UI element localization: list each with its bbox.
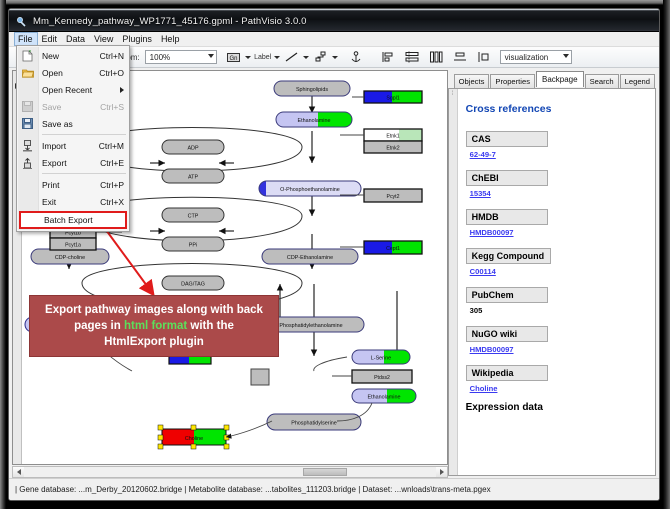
xref-nugo: NuGO wiki HMDB00097 <box>466 324 647 354</box>
pathvisio-icon <box>16 16 28 28</box>
svg-text:Pcyt2: Pcyt2 <box>387 194 400 200</box>
node-sphingolipids: Sphingolipids <box>274 81 350 96</box>
xref-cas-label: CAS <box>466 131 548 147</box>
menu-item-save-label: Save <box>42 102 61 112</box>
menu-item-open-label: Open <box>42 68 63 78</box>
line-dropdown-icon[interactable] <box>302 49 311 65</box>
menu-help[interactable]: Help <box>157 32 185 46</box>
side-panel: Objects Properties Backpage Search Legen… <box>447 69 659 478</box>
export-icon <box>21 156 34 169</box>
new-document-icon <box>21 49 34 62</box>
node-pcyt1a: Pcyt1a <box>50 238 96 250</box>
xref-hmdb: HMDB HMDB00097 <box>466 207 647 237</box>
tab-backpage[interactable]: Backpage <box>536 71 584 87</box>
menu-item-open-accel: Ctrl+O <box>99 68 124 78</box>
screen-right-border <box>663 0 670 509</box>
node-cdp-ethanolamine: CDP-Ethanolamine <box>262 249 358 264</box>
file-menu-dropdown: New Ctrl+N Open Ctrl+O Open Recent Save <box>16 45 130 232</box>
menu-item-batch-export[interactable]: Batch Export <box>19 211 127 229</box>
node-group-box <box>251 369 269 385</box>
menu-item-export-accel: Ctrl+E <box>100 158 124 168</box>
menu-item-save-as[interactable]: Save as <box>17 115 129 132</box>
menu-separator-2 <box>42 173 126 174</box>
menu-item-save-accel: Ctrl+S <box>100 102 124 112</box>
xref-pubchem-label: PubChem <box>466 287 548 303</box>
svg-text:Cept1: Cept1 <box>386 246 400 252</box>
node-adp: ADP <box>162 140 224 154</box>
svg-text:Ethanolamine: Ethanolamine <box>368 395 401 401</box>
screen-left-border <box>0 0 6 509</box>
interaction-dropdown-icon[interactable] <box>331 49 340 65</box>
align-rows-button[interactable] <box>404 49 420 65</box>
scroll-left-icon[interactable] <box>13 467 24 477</box>
menu-item-open-recent[interactable]: Open Recent <box>17 81 129 98</box>
svg-text:CTP: CTP <box>188 214 199 220</box>
svg-text:CDP-choline: CDP-choline <box>55 255 85 261</box>
node-l-serine: L-Serine <box>352 350 410 364</box>
xref-wikipedia: Wikipedia Choline <box>466 363 647 393</box>
menu-item-exit[interactable]: Exit Ctrl+X <box>17 193 129 210</box>
menu-item-print[interactable]: Print Ctrl+P <box>17 176 129 193</box>
node-etnk1: Etnk1 <box>364 129 422 141</box>
svg-text:Gn: Gn <box>230 56 238 62</box>
menu-item-save-as-label: Save as <box>42 119 73 129</box>
zoom-combo[interactable]: 100% <box>145 50 217 64</box>
menu-item-import-accel: Ctrl+M <box>99 141 124 151</box>
tab-search[interactable]: Search <box>585 74 619 88</box>
anchor-button[interactable] <box>348 49 364 65</box>
menu-data[interactable]: Data <box>62 32 90 46</box>
xref-cas: CAS 62-49-7 <box>466 129 647 159</box>
svg-text:Phosphatidylethanolamine: Phosphatidylethanolamine <box>279 323 342 329</box>
label-button[interactable]: Label <box>255 49 271 65</box>
align-cols-button[interactable] <box>428 49 444 65</box>
side-panel-body: ⁞ Cross references CAS 62-49-7 ChEBI 153… <box>448 88 656 476</box>
xref-pubchem: PubChem 305 <box>466 285 647 315</box>
menu-item-save: Save Ctrl+S <box>17 98 129 115</box>
menu-item-new-label: New <box>42 51 59 61</box>
callout-line-2: pages in html format with the <box>74 318 234 334</box>
screen-top-border <box>0 0 670 5</box>
xref-kegg: Kegg Compound C00114 <box>466 246 647 276</box>
xref-cas-value[interactable]: 62-49-7 <box>466 150 647 159</box>
xref-hmdb-value[interactable]: HMDB00097 <box>466 228 647 237</box>
chevron-down-icon <box>563 54 569 58</box>
menu-item-export-label: Export <box>42 158 67 168</box>
stack-button[interactable] <box>452 49 468 65</box>
chevron-down-icon <box>208 54 214 58</box>
menu-item-open-recent-label: Open Recent <box>42 85 92 95</box>
xref-hmdb-label: HMDB <box>466 209 548 225</box>
scroll-thumb[interactable] <box>303 468 347 476</box>
group-button[interactable] <box>476 49 492 65</box>
node-atp: ATP <box>162 169 224 183</box>
node-phosphatidylserine: Phosphatidylserine <box>267 414 361 430</box>
svg-text:Pcyt1a: Pcyt1a <box>65 243 81 249</box>
label-dropdown-icon[interactable] <box>273 49 282 65</box>
visualization-value: visualization <box>505 53 549 62</box>
xref-wikipedia-label: Wikipedia <box>466 365 548 381</box>
annotation-callout: Export pathway images along with back pa… <box>29 295 279 357</box>
datanode-dropdown-icon[interactable] <box>244 49 253 65</box>
menu-item-new-accel: Ctrl+N <box>100 51 124 61</box>
node-ethanolamine-top: Ethanolamine <box>276 112 352 127</box>
submenu-arrow-icon <box>120 87 124 93</box>
node-cdp-choline: CDP-choline <box>31 249 109 264</box>
menu-item-print-accel: Ctrl+P <box>100 180 124 190</box>
menu-item-exit-label: Exit <box>42 197 56 207</box>
zoom-value: 100% <box>150 53 170 62</box>
callout-line-2-highlight: html format <box>124 320 187 332</box>
rail-grip-icon[interactable]: ⁞ <box>452 92 454 96</box>
menu-plugins[interactable]: Plugins <box>118 32 157 46</box>
svg-text:ADP: ADP <box>187 146 198 152</box>
menu-edit[interactable]: Edit <box>38 32 63 46</box>
node-choline-selected: Choline <box>158 425 229 449</box>
line-button[interactable] <box>284 49 300 65</box>
svg-text:Sgpl1: Sgpl1 <box>386 96 399 102</box>
svg-text:O-Phosphoethanolamine: O-Phosphoethanolamine <box>280 187 340 193</box>
tab-legend[interactable]: Legend <box>620 74 655 88</box>
pathvisio-window: Mm_Kennedy_pathway_WP1771_45176.gpml - P… <box>8 8 660 501</box>
xref-kegg-value[interactable]: C00114 <box>466 267 647 276</box>
side-panel-tabs: Objects Properties Backpage Search Legen… <box>448 73 656 88</box>
menu-item-batch-export-label: Batch Export <box>44 215 93 225</box>
svg-text:L-Serine: L-Serine <box>371 356 391 362</box>
svg-text:DAG/TAG: DAG/TAG <box>181 282 205 288</box>
scroll-right-icon[interactable] <box>436 467 447 477</box>
desktop-background: Mm_Kennedy_pathway_WP1771_45176.gpml - P… <box>0 0 670 509</box>
menu-item-import[interactable]: Import Ctrl+M <box>17 137 129 154</box>
xref-pubchem-value: 305 <box>466 306 647 315</box>
callout-line-2-a: pages in <box>74 320 121 332</box>
side-panel-rail[interactable]: ⁞ <box>449 89 458 475</box>
svg-text:Ethanolamine: Ethanolamine <box>298 118 331 124</box>
node-sgpl1: Sgpl1 <box>364 91 422 103</box>
import-icon <box>21 139 34 152</box>
node-cept1: Cept1 <box>364 241 422 254</box>
menu-item-export[interactable]: Export Ctrl+E <box>17 154 129 171</box>
svg-text:Sphingolipids: Sphingolipids <box>296 87 328 93</box>
tab-objects[interactable]: Objects <box>454 74 490 88</box>
xref-chebi-value[interactable]: 15354 <box>466 189 647 198</box>
menu-separator-1 <box>42 134 126 135</box>
window-titlebar: Mm_Kennedy_pathway_WP1771_45176.gpml - P… <box>9 9 659 32</box>
callout-line-1: Export pathway images along with back <box>45 302 263 318</box>
node-etnk2: Etnk2 <box>364 141 422 153</box>
menu-file[interactable]: File <box>14 32 38 46</box>
callout-line-2-b: with the <box>190 320 233 332</box>
svg-text:ATP: ATP <box>188 175 198 181</box>
svg-text:Etnk2: Etnk2 <box>386 146 399 152</box>
node-dag-tag: DAG/TAG <box>162 276 224 290</box>
window-title: Mm_Kennedy_pathway_WP1771_45176.gpml - P… <box>33 16 307 27</box>
node-o-phosphoethanolamine: O-Phosphoethanolamine <box>259 181 361 196</box>
open-folder-icon <box>21 66 34 79</box>
svg-text:Phosphatidylserine: Phosphatidylserine <box>291 421 337 427</box>
visualization-combo[interactable]: visualization <box>500 50 572 64</box>
status-text: | Gene database: ...m_Derby_20120602.bri… <box>15 485 491 494</box>
backpage-content: Cross references CAS 62-49-7 ChEBI 15354… <box>458 89 655 475</box>
menu-item-open[interactable]: Open Ctrl+O <box>17 64 129 81</box>
canvas-horizontal-scrollbar[interactable] <box>12 466 448 478</box>
menu-item-import-label: Import <box>42 141 66 151</box>
node-ethanolamine-bottom: Ethanolamine <box>352 389 416 403</box>
svg-text:Ptdss2: Ptdss2 <box>374 375 390 381</box>
menu-item-print-label: Print <box>42 180 59 190</box>
tab-properties[interactable]: Properties <box>490 74 535 88</box>
menu-view[interactable]: View <box>90 32 118 46</box>
node-ppi: PPi <box>162 237 224 251</box>
save-as-disk-icon <box>21 117 34 130</box>
node-pcyt2: Pcyt2 <box>364 189 422 202</box>
xref-nugo-label: NuGO wiki <box>466 326 548 342</box>
svg-text:CDP-Ethanolamine: CDP-Ethanolamine <box>287 255 333 261</box>
datanode-button[interactable]: Gn <box>226 49 242 65</box>
menu-item-new[interactable]: New Ctrl+N <box>17 47 129 64</box>
statusbar: | Gene database: ...m_Derby_20120602.bri… <box>9 478 659 500</box>
expression-data-title: Expression data <box>466 402 647 413</box>
xref-wikipedia-value[interactable]: Choline <box>466 384 647 393</box>
cross-references-title: Cross references <box>466 103 647 115</box>
svg-text:Etnk1: Etnk1 <box>386 134 399 140</box>
save-disk-icon <box>21 100 34 113</box>
svg-text:Choline: Choline <box>185 436 203 442</box>
label-button-text: Label <box>254 54 271 61</box>
interaction-button[interactable] <box>313 49 329 65</box>
xref-chebi: ChEBI 15354 <box>466 168 647 198</box>
node-ptdss2: Ptdss2 <box>352 370 412 383</box>
svg-text:PPi: PPi <box>189 243 197 249</box>
node-ctp: CTP <box>162 208 224 222</box>
menu-item-exit-accel: Ctrl+X <box>100 197 124 207</box>
xref-chebi-label: ChEBI <box>466 170 548 186</box>
xref-kegg-label: Kegg Compound <box>466 248 552 264</box>
align-left-button[interactable] <box>380 49 396 65</box>
callout-line-3: HtmlExport plugin <box>104 334 204 350</box>
xref-nugo-value[interactable]: HMDB00097 <box>466 345 647 354</box>
